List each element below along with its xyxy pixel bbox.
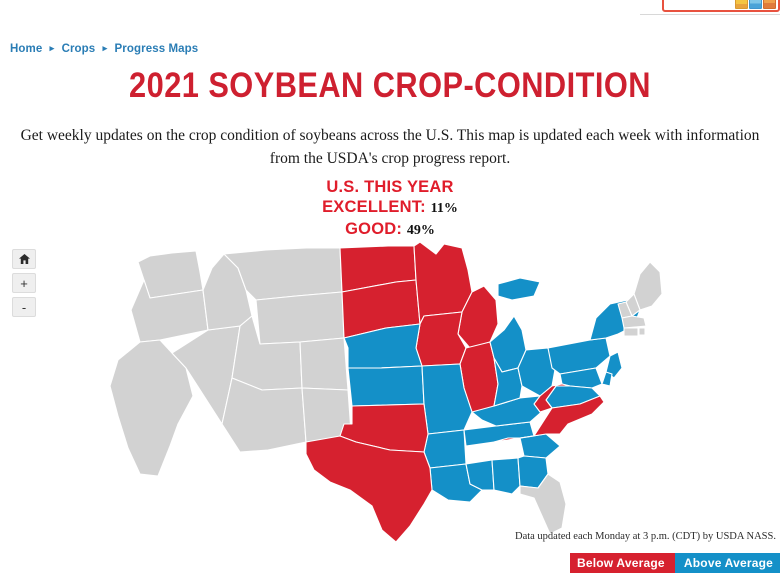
map-legend: Below Average Above Average — [570, 553, 780, 573]
breadcrumb-item-crops[interactable]: Crops — [62, 43, 96, 55]
stat-excellent-value: 11% — [431, 201, 458, 216]
state-ME[interactable] — [634, 262, 662, 310]
breadcrumb-separator-icon: ▸ — [103, 43, 108, 53]
stats-block: U.S. THIS YEAR EXCELLENT: 11% GOOD: 49% — [0, 177, 780, 241]
stats-heading: U.S. THIS YEAR — [0, 177, 780, 197]
state-KS[interactable] — [348, 366, 424, 406]
stat-excellent: EXCELLENT: 11% — [0, 197, 780, 219]
state-WY[interactable] — [256, 292, 344, 344]
banner-thumb-blue-icon — [749, 0, 762, 9]
state-AL[interactable] — [492, 458, 520, 494]
us-choropleth-map[interactable] — [0, 238, 780, 558]
state-AR[interactable] — [424, 430, 466, 468]
map-attribution: Data updated each Monday at 3 p.m. (CDT)… — [515, 531, 776, 542]
state-IA[interactable] — [416, 312, 466, 366]
state-PA[interactable] — [548, 338, 610, 374]
state-CO[interactable] — [300, 338, 348, 390]
breadcrumb-item-home[interactable]: Home — [10, 43, 42, 55]
state-MA[interactable] — [622, 316, 646, 328]
crop-condition-page: Home ▸ Crops ▸ Progress Maps 2021 SOYBEA… — [0, 0, 780, 575]
legend-below-average[interactable]: Below Average — [570, 553, 675, 573]
promo-banner[interactable] — [662, 0, 780, 12]
banner-thumb-yellow-icon — [735, 0, 748, 9]
page-title: 2021 SOYBEAN CROP-CONDITION — [47, 66, 733, 106]
state-DE[interactable] — [602, 372, 612, 386]
breadcrumb-item-progress-maps[interactable]: Progress Maps — [115, 43, 199, 55]
breadcrumb-separator-icon: ▸ — [50, 43, 55, 53]
stat-good-label: GOOD: — [345, 220, 402, 238]
state-CT[interactable] — [624, 328, 638, 336]
banner-thumb-orange-icon — [763, 0, 776, 9]
stat-excellent-label: EXCELLENT: — [322, 198, 426, 216]
state-TX[interactable] — [306, 436, 432, 542]
intro-paragraph: Get weekly updates on the crop condition… — [8, 124, 772, 170]
breadcrumb: Home ▸ Crops ▸ Progress Maps — [10, 43, 198, 55]
header-divider — [640, 14, 780, 15]
stat-good-value: 49% — [407, 223, 435, 238]
state-RI[interactable] — [639, 328, 645, 335]
legend-above-average[interactable]: Above Average — [675, 553, 780, 573]
